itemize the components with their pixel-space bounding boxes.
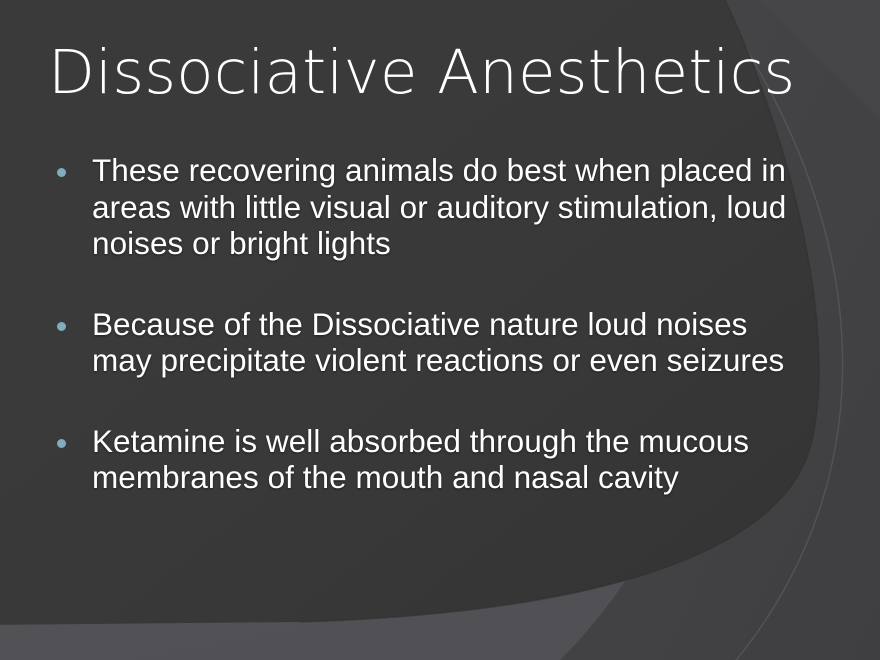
round-bullet-icon <box>57 168 66 177</box>
bullet-list: These recovering animals do best when pl… <box>50 152 810 496</box>
page-title: Dissociative Anesthetics <box>48 38 838 108</box>
list-item-text: Because of the Dissociative nature loud … <box>92 306 810 379</box>
round-bullet-icon <box>57 322 66 331</box>
list-item-text: Ketamine is well absorbed through the mu… <box>92 423 810 496</box>
list-item: Ketamine is well absorbed through the mu… <box>50 423 810 496</box>
list-item: These recovering animals do best when pl… <box>50 152 810 262</box>
list-item: Because of the Dissociative nature loud … <box>50 306 810 379</box>
list-item-text: These recovering animals do best when pl… <box>92 152 810 262</box>
title-block: Dissociative Anesthetics <box>48 38 838 108</box>
round-bullet-icon <box>57 439 66 448</box>
presentation-slide: Dissociative Anesthetics These recoverin… <box>0 0 880 660</box>
